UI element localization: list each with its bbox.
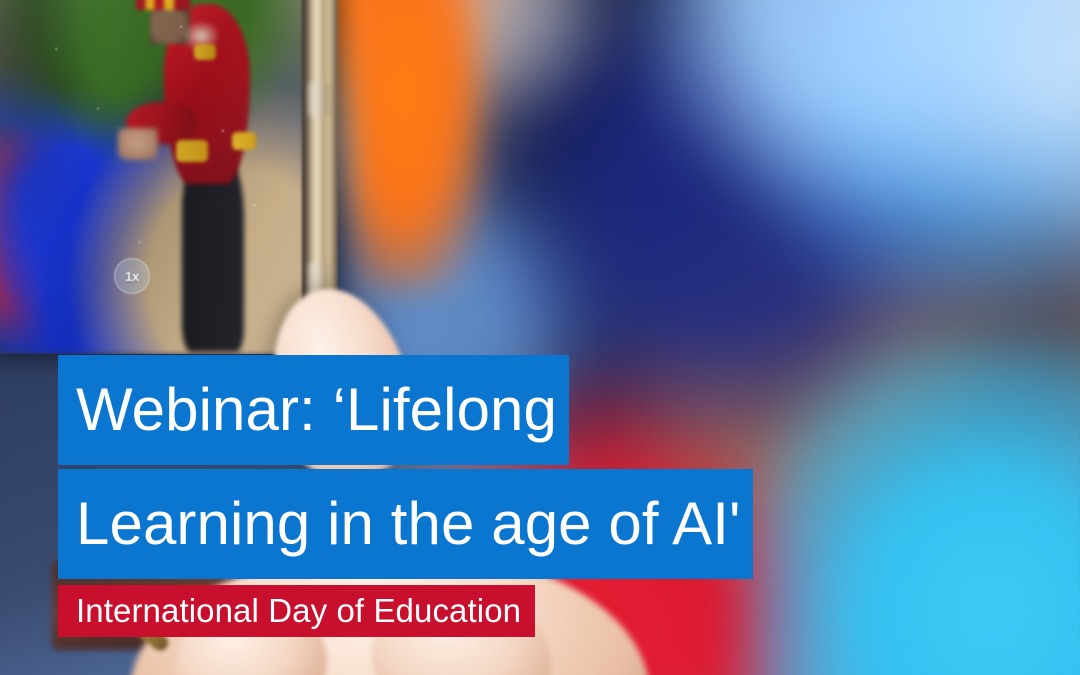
- headline-line-2: Learning in the age of AI': [58, 469, 753, 579]
- banner-image: 1x Webinar: ‘Lifelong Learning in the ag…: [0, 0, 1080, 675]
- headline-block: Webinar: ‘Lifelong Learning in the age o…: [58, 355, 1018, 579]
- smartphone: 1x: [0, 0, 338, 354]
- zoom-level-label: 1x: [125, 269, 139, 284]
- phone-screen: 1x: [0, 0, 306, 354]
- headline-line-1: Webinar: ‘Lifelong: [58, 355, 569, 465]
- subtitle-text: International Day of Education: [58, 585, 535, 637]
- subtitle-block: International Day of Education: [58, 585, 535, 637]
- orange-shirt-blur: [352, 0, 482, 290]
- screen-shadow: [0, 0, 96, 272]
- zoom-level-chip[interactable]: 1x: [114, 258, 150, 294]
